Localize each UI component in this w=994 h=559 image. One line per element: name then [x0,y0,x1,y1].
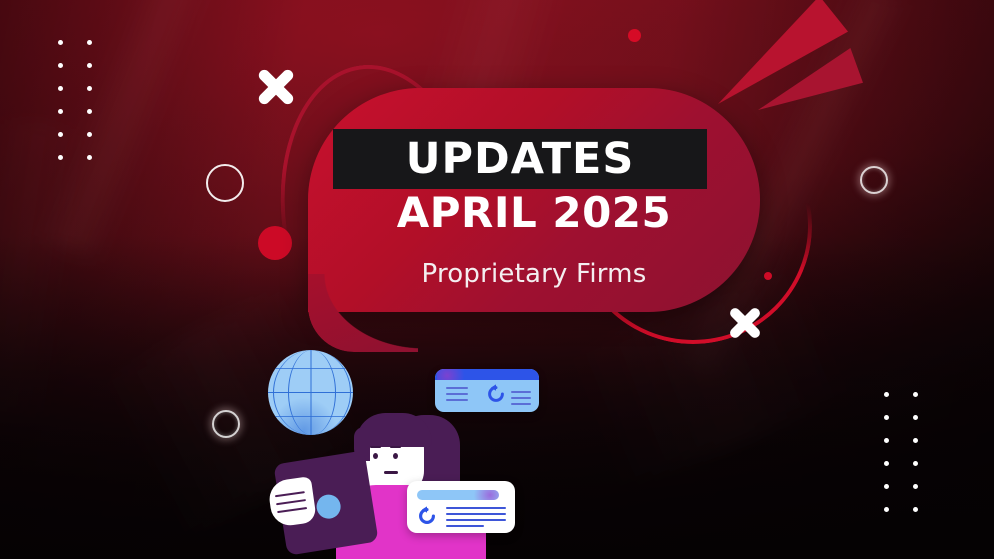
menu-lines-right-icon [511,391,531,409]
refresh-icon [416,505,438,527]
hand [267,476,317,528]
updates-banner: UPDATES [333,129,707,189]
tablet-screen-dot [315,493,342,520]
person-eye [373,453,378,459]
document-card-header [417,490,499,500]
person-eye [393,453,398,459]
glow-ring-left-icon [212,410,240,438]
red-dot-top-icon [628,29,641,42]
person-mouth [384,471,398,474]
dot-grid-top-left-icon [58,40,92,160]
red-dot-large-icon [258,226,292,260]
dot-grid-bottom-right-icon [884,392,918,512]
banner-label: UPDATES [406,138,635,181]
illustration-group [262,345,562,559]
document-text-lines [446,507,506,531]
poster-canvas: UPDATES APRIL 2025 Proprietary Firms [0,0,994,559]
browser-card [435,369,539,412]
person-eyebrow [390,446,401,448]
circle-outline-icon [206,164,244,202]
browser-card-titlebar [435,369,539,380]
x-mark-top-left-icon [254,65,298,109]
glow-ring-right-icon [860,166,888,194]
red-dot-right-icon [764,272,772,280]
refresh-icon [485,383,507,405]
page-title: APRIL 2025 [308,192,760,234]
person-eyebrow [370,446,381,448]
menu-lines-left-icon [446,387,468,405]
page-subtitle: Proprietary Firms [308,261,760,287]
document-card [407,481,515,533]
